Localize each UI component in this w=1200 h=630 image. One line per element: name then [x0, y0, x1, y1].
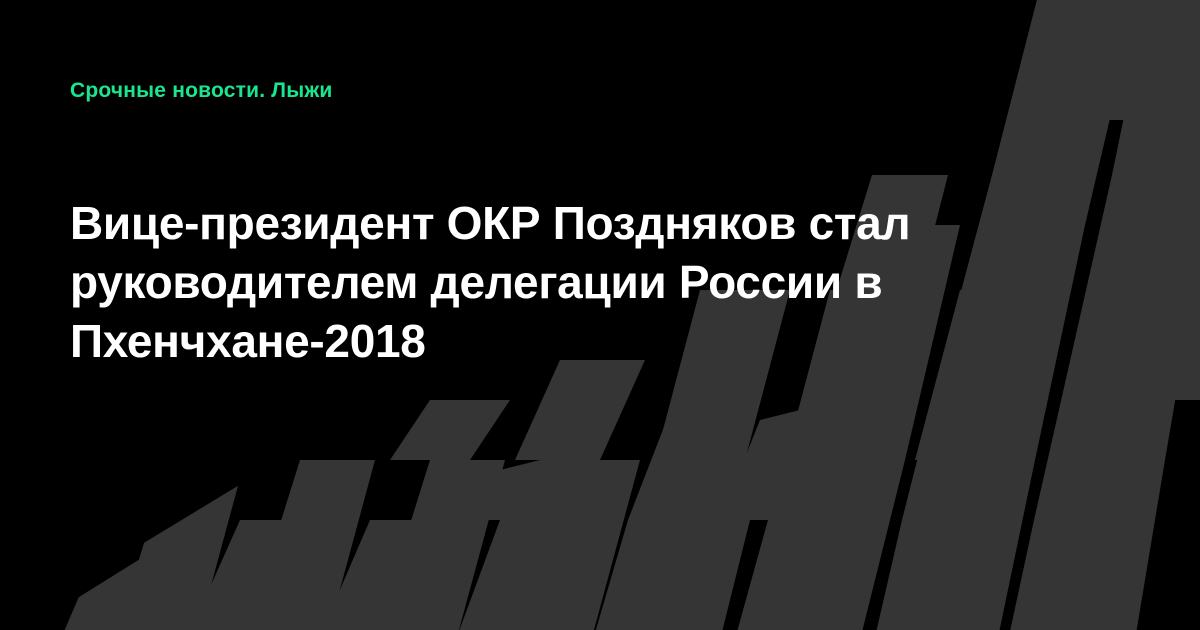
headline-line-2: руководителем делегации России в: [70, 253, 1030, 312]
headline-line-3: Пхенчхане-2018: [70, 312, 1030, 371]
news-share-card: Срочные новости. Лыжи Вице-президент ОКР…: [0, 0, 1200, 630]
headline-line-1: Вице-президент ОКР Поздняков стал: [70, 194, 1030, 253]
kicker-label: Срочные новости. Лыжи: [70, 78, 333, 104]
page-title: Вице-президент ОКР Поздняков стал руково…: [70, 194, 1030, 371]
